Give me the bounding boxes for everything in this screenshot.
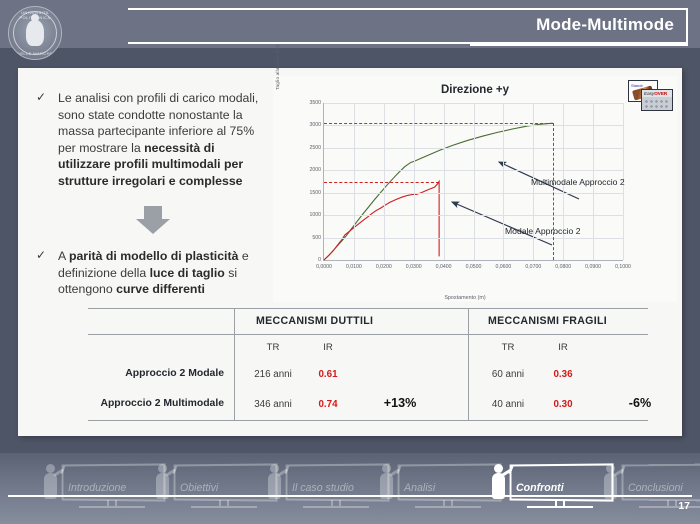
thumbnail-group: Standr EasyOVER (628, 80, 674, 112)
y-axis-tick: 2500 (309, 145, 321, 151)
y-axis-tick: 3500 (309, 100, 321, 106)
table-top-rule (88, 308, 648, 309)
table-cell-tr-fragili: 40 anni (492, 399, 524, 410)
chart-title: Direzione +y (273, 84, 677, 96)
grid-line-v (444, 103, 445, 260)
nav-item-label: Confronti (516, 482, 564, 494)
content-card: ✓ Le analisi con profili di carico modal… (18, 68, 682, 436)
easyover-thumbnail: EasyOVER (641, 89, 673, 111)
x-axis-tick: 0,0700 (525, 264, 541, 270)
nav-item-label: Obiettivi (180, 482, 218, 494)
y-axis-tick: 1000 (309, 212, 321, 218)
table-delta-duttili: +13% (384, 396, 417, 410)
table-group-header-fragili: MECCANISMI FRAGILI (488, 315, 607, 327)
pushover-chart: Direzione +y Taglio alla base (kN) Spost… (273, 76, 677, 302)
easyover-thumbnail-label: EasyOVER (642, 90, 672, 97)
table-group-header-duttili: MECCANISMI DUTTILI (256, 315, 373, 327)
y-axis-tick: 2000 (309, 167, 321, 173)
reference-line-v-1 (553, 123, 554, 260)
page-title: Mode-Multimode (536, 15, 674, 35)
table-cell-tr-duttili: 216 anni (254, 369, 292, 380)
table-cell-tr-duttili: 346 anni (254, 399, 292, 410)
table-row-label: Approccio 2 Modale (125, 368, 224, 379)
grid-line-v (474, 103, 475, 260)
nav-presenter-icon (602, 464, 624, 504)
table-row-label: Approccio 2 Multimodale (100, 398, 224, 409)
table-header-rule (88, 334, 648, 335)
bullet-check-icon-1: ✓ (36, 90, 46, 104)
y-axis-tick: 0 (318, 257, 321, 263)
bullet-run: parità di modello di plasticità (69, 249, 238, 263)
nav-presenter-icon (154, 464, 176, 504)
title-underline (470, 43, 688, 46)
table-cell-ir-duttili: 0.61 (318, 369, 337, 380)
annotation-modale: Modale Approccio 2 (505, 226, 580, 236)
table-cell-ir-duttili: 0.74 (318, 399, 337, 410)
grid-line-v (503, 103, 504, 260)
x-axis-tick: 0,0200 (376, 264, 392, 270)
annotation-multimodale: Multimodale Approccio 2 (531, 177, 625, 187)
nav-presenter-icon (266, 464, 288, 504)
table-cell-ir-fragili: 0.30 (553, 399, 572, 410)
easyover-pattern (644, 99, 670, 108)
nav-item-label: Introduzione (68, 482, 126, 494)
x-axis-tick: 0,0600 (495, 264, 511, 270)
bullet-run: curve differenti (116, 282, 205, 296)
table-sub-header-tr-fragili: TR (502, 342, 515, 353)
nav-presenter-icon (378, 464, 400, 504)
nav-item-label: Il caso studio (292, 482, 354, 494)
results-table: MECCANISMI DUTTILIMECCANISMI FRAGILITRIR… (88, 308, 648, 426)
x-axis-tick: 0,0400 (436, 264, 452, 270)
nav-presenter-icon (490, 464, 512, 504)
bullet-text-2: A parità di modello di plasticità e defi… (58, 248, 274, 298)
table-sub-header-tr-duttili: TR (267, 342, 280, 353)
nav-presenter-icon (42, 464, 64, 504)
table-sub-header-ir-duttili: IR (323, 342, 333, 353)
x-axis-tick: 0,1000 (615, 264, 631, 270)
table-bottom-rule (88, 420, 648, 421)
x-axis-tick: 0,0900 (585, 264, 601, 270)
table-divider-1 (234, 308, 235, 420)
x-axis-tick: 0,0800 (555, 264, 571, 270)
seal-bottom-text: DELLE MARCHE (9, 51, 61, 56)
bullet-run: A (58, 249, 69, 263)
table-sub-header-ir-fragili: IR (558, 342, 568, 353)
table-divider-2 (468, 308, 469, 420)
nav-item-label: Analisi (404, 482, 435, 494)
nav-item-label: Conclusioni (628, 482, 683, 494)
university-seal-logo: UNIVERSITA POLITECNICA DELLE MARCHE (8, 6, 62, 60)
y-axis-tick: 500 (312, 235, 321, 241)
bullet-check-icon-2: ✓ (36, 248, 46, 262)
chart-x-axis-label: Spostamento (m) (273, 295, 677, 301)
chart-y-axis-label: Taglio alla base (kN) (275, 44, 280, 90)
reference-line-h-1 (324, 123, 553, 124)
page-number: 17 (678, 500, 690, 512)
seal-figure-icon (26, 20, 44, 46)
x-axis-tick: 0,0000 (316, 264, 332, 270)
bullet-run: luce di taglio (150, 266, 225, 280)
x-axis-tick: 0,0300 (406, 264, 422, 270)
x-axis-tick: 0,0500 (466, 264, 482, 270)
table-cell-ir-fragili: 0.36 (553, 369, 572, 380)
x-axis-tick: 0,0100 (346, 264, 362, 270)
y-axis-tick: 1500 (309, 190, 321, 196)
table-cell-tr-fragili: 60 anni (492, 369, 524, 380)
y-axis-tick: 3000 (309, 122, 321, 128)
table-delta-fragili: -6% (629, 396, 651, 410)
reference-line-h-2 (324, 182, 439, 183)
bullet-text-1: Le analisi con profili di carico modali,… (58, 90, 270, 190)
